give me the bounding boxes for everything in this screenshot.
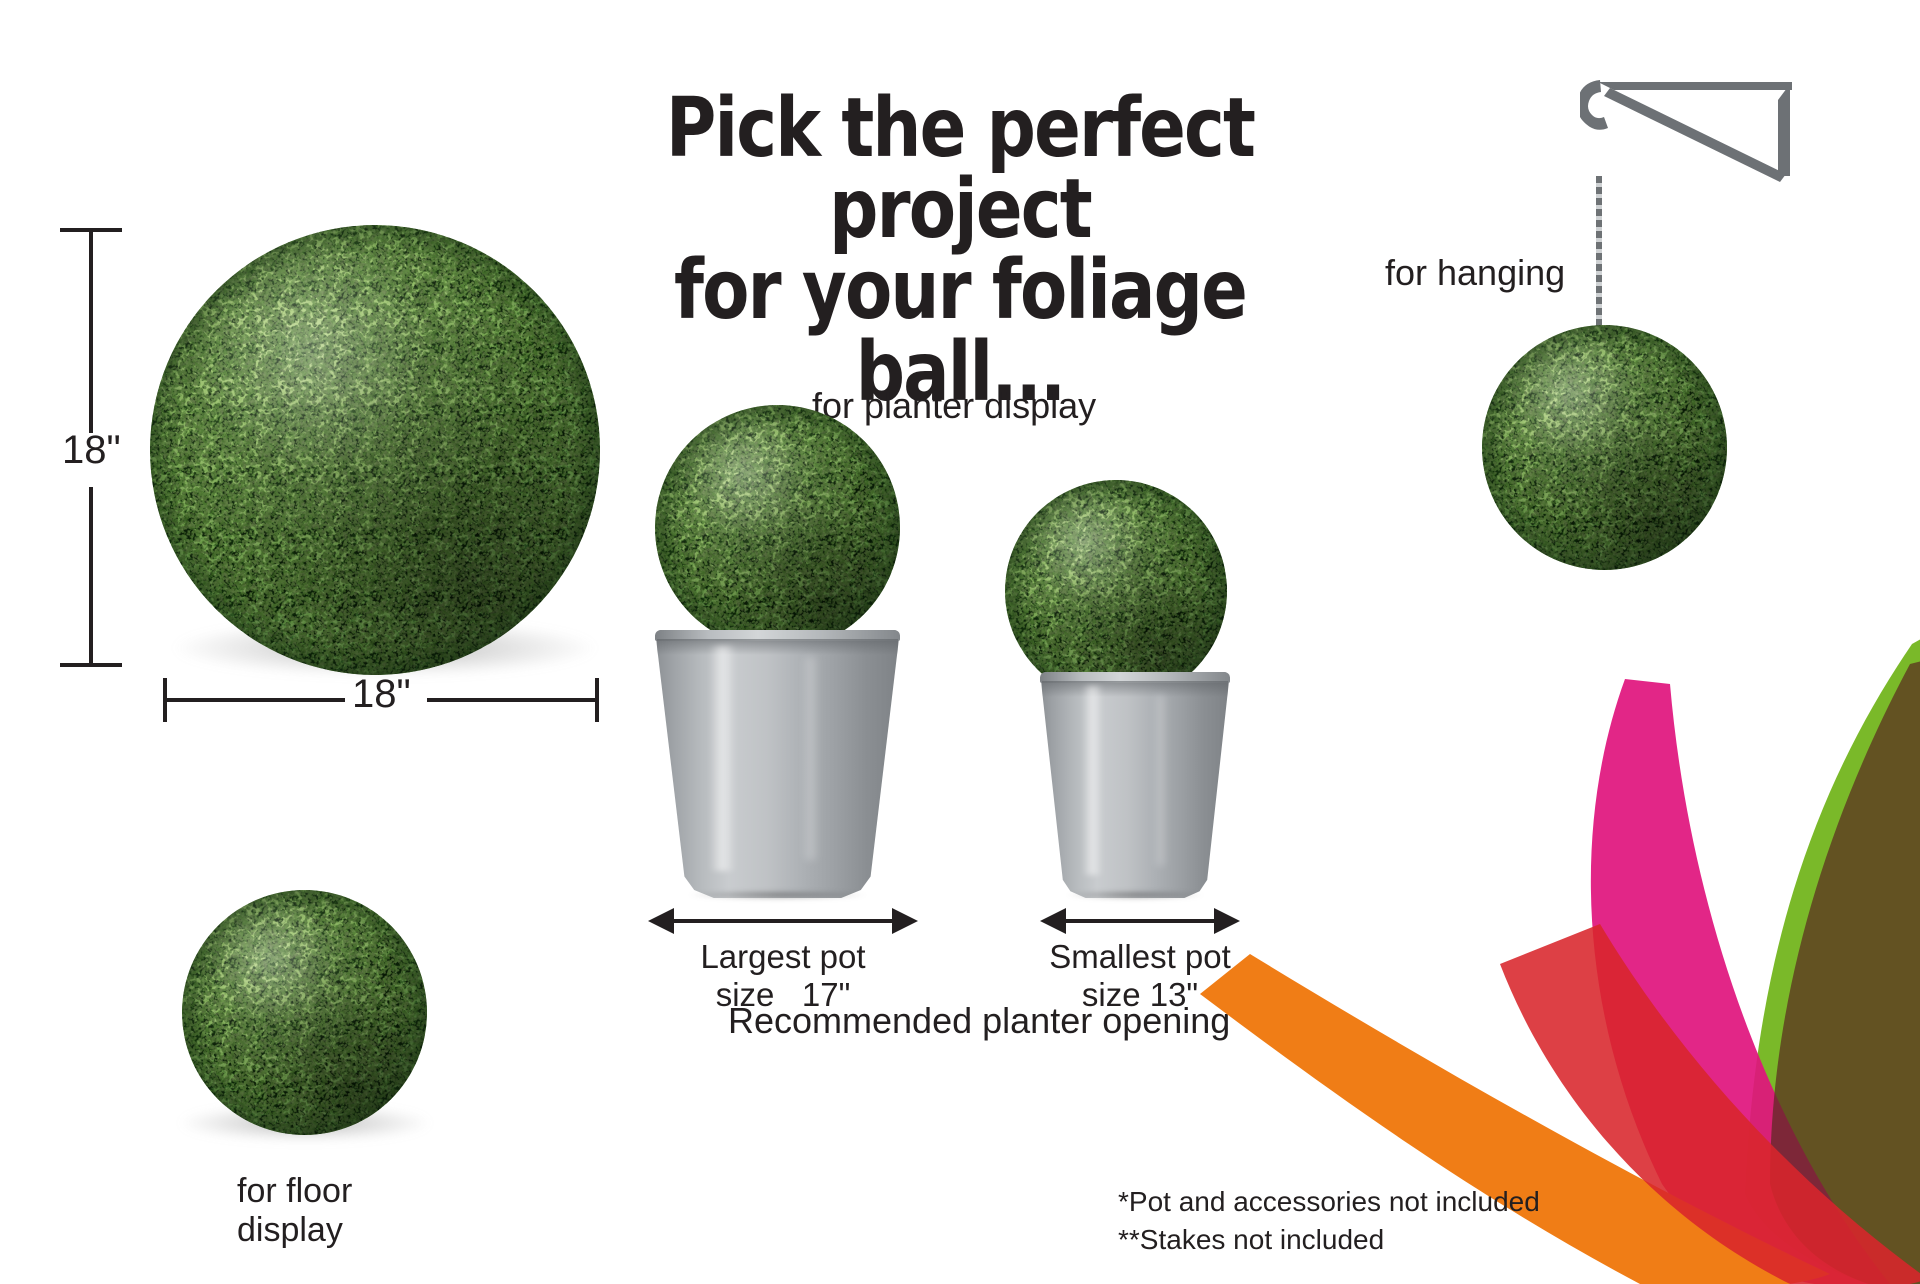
- floor-display-label: for floor display: [237, 1172, 352, 1250]
- headline-line-1: Pick the perfect project: [666, 81, 1254, 257]
- largest-pot-foliage-ball: [655, 405, 900, 650]
- largest-planter-pot: [655, 630, 900, 898]
- page-title: Pick the perfect project for your foliag…: [574, 88, 1347, 413]
- hanging-chain: [1596, 176, 1602, 326]
- footnote-line-2: **Stakes not included: [1118, 1222, 1384, 1258]
- arrow-head-right-icon: [892, 908, 918, 934]
- hero-ball-body: [150, 225, 600, 675]
- hanging-label: for hanging: [1385, 252, 1565, 293]
- hero-height-line-lower: [89, 487, 93, 667]
- hero-width-label: 18": [352, 672, 411, 718]
- largest-ball-body: [655, 405, 900, 650]
- largest-pot-arrow: [648, 908, 918, 934]
- arrow-shaft: [662, 919, 904, 923]
- wall-bracket-icon: [1580, 70, 1810, 190]
- hero-width-line-left: [163, 698, 345, 702]
- hero-height-cap-bottom: [60, 663, 122, 667]
- floor-foliage-ball: [182, 890, 427, 1135]
- infographic-canvas: Pick the perfect project for your foliag…: [0, 0, 1920, 1284]
- hero-height-line-upper: [89, 228, 93, 433]
- recommended-opening-label: Recommended planter opening: [728, 1000, 1230, 1041]
- hero-foliage-ball: [150, 225, 600, 675]
- hero-width-cap-right: [595, 678, 599, 722]
- hero-height-label: 18": [62, 428, 121, 474]
- decorative-petals: [1170, 494, 1920, 1284]
- floor-ball-body: [182, 890, 427, 1135]
- footnote-line-1: *Pot and accessories not included: [1118, 1184, 1540, 1220]
- hero-width-line-right: [427, 698, 599, 702]
